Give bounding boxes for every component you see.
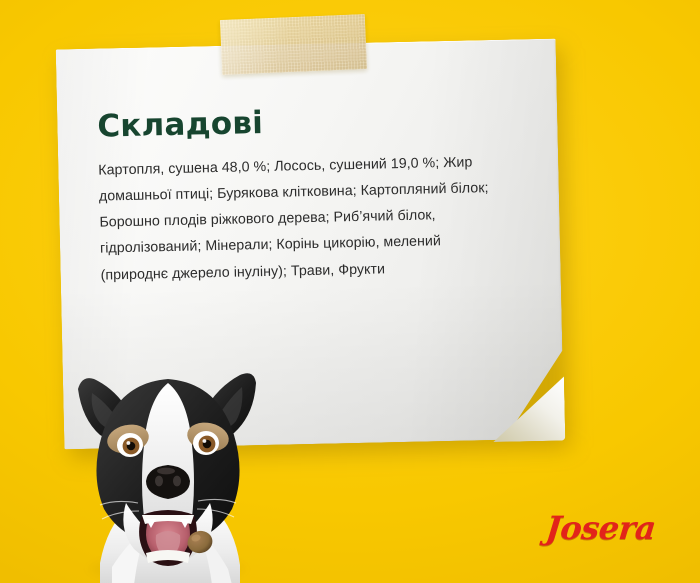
tape-strip: [220, 14, 367, 75]
ingredients-text: Картопля, сушена 48,0 %; Лосось, сушений…: [98, 148, 501, 288]
josera-logo-text: Josera: [544, 508, 668, 548]
page-title: Складові: [97, 101, 518, 143]
dog-photo: [42, 353, 292, 583]
josera-logo: Josera: [546, 508, 666, 548]
promo-graphic: Складові Картопля, сушена 48,0 %; Лосось…: [0, 0, 700, 583]
note-content: Складові Картопля, сушена 48,0 %; Лосось…: [97, 101, 521, 288]
